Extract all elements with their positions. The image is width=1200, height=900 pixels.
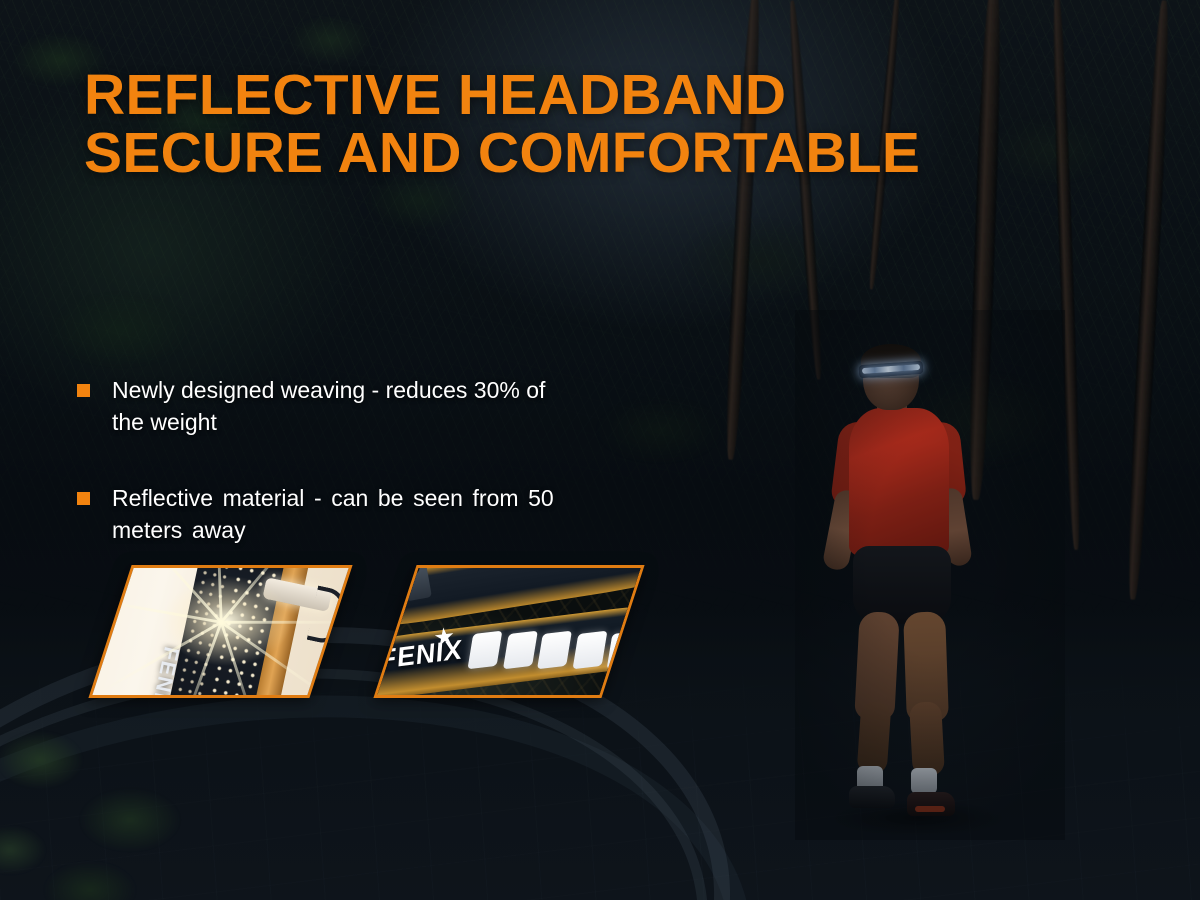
inset-1-content: FENIX xyxy=(88,565,352,698)
runner-right-calf xyxy=(909,701,945,777)
headline-line-2: SECURE AND COMFORTABLE xyxy=(84,124,1044,182)
headline-line-1: REFLECTIVE HEADBAND xyxy=(84,66,1044,124)
reflective-stripe xyxy=(572,630,607,669)
product-feature-slide: REFLECTIVE HEADBAND SECURE AND COMFORTAB… xyxy=(0,0,1200,900)
list-item: Reflective material - can be seen from 5… xyxy=(77,482,677,546)
runner-red-shirt xyxy=(849,408,949,556)
light-ray xyxy=(221,621,353,624)
runner-right-sock xyxy=(911,768,937,794)
inset-headband-reflective-stripes: FENIX ★ xyxy=(373,565,644,698)
bullet-text-1: Newly designed weaving - reduces 30% of … xyxy=(112,374,582,438)
night-runner-figure xyxy=(815,330,1045,820)
runner-left-shoe xyxy=(849,786,895,808)
fenix-star-icon: ★ xyxy=(432,623,457,654)
square-bullet-icon xyxy=(77,492,90,505)
list-item: Newly designed weaving - reduces 30% of … xyxy=(77,374,677,438)
roadside-shrub xyxy=(0,670,250,900)
bullet-text-2: Reflective material - can be seen from 5… xyxy=(112,482,582,546)
runner-shoe-accent xyxy=(915,806,945,812)
inset-2-content: FENIX ★ xyxy=(373,565,644,698)
inset-headband-perforation: FENIX xyxy=(88,565,352,698)
square-bullet-icon xyxy=(77,384,90,397)
runner-left-calf xyxy=(857,701,892,775)
runner-black-shorts xyxy=(853,546,951,624)
runner-right-shoe xyxy=(907,792,955,816)
headline-block: REFLECTIVE HEADBAND SECURE AND COMFORTAB… xyxy=(84,66,1044,182)
feature-bullet-list: Newly designed weaving - reduces 30% of … xyxy=(77,374,677,590)
